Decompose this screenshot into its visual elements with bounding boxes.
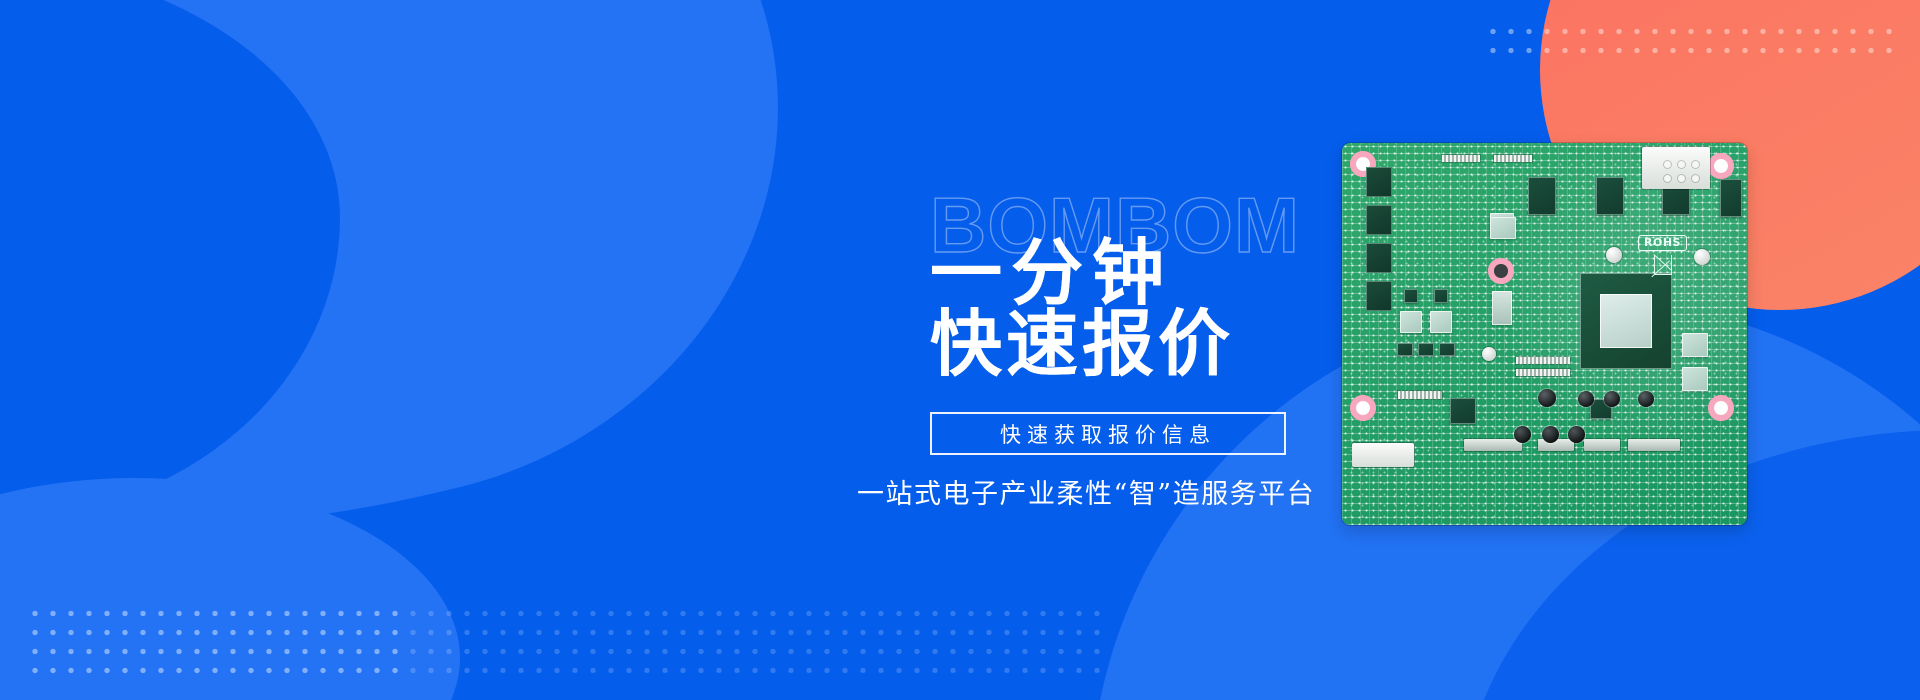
pcb-chip bbox=[1490, 217, 1516, 239]
pcb-io-port bbox=[1628, 439, 1680, 451]
get-quote-button[interactable]: 快速获取报价信息 bbox=[930, 412, 1286, 455]
rohs-label: ROHS bbox=[1638, 235, 1687, 251]
pcb-io-port bbox=[1352, 443, 1414, 467]
pcb-chip bbox=[1492, 291, 1512, 325]
pcb-chip bbox=[1366, 205, 1392, 235]
pcb-pad bbox=[1678, 161, 1685, 168]
pcb-pad bbox=[1692, 175, 1699, 182]
pcb-mount-hole bbox=[1708, 153, 1734, 179]
pcb-card-slot bbox=[1642, 147, 1710, 189]
pcb-chip bbox=[1400, 311, 1422, 333]
pcb-chip bbox=[1434, 289, 1448, 303]
pcb-chip bbox=[1418, 343, 1434, 356]
pcb-pin-header bbox=[1398, 391, 1442, 399]
pcb-chip bbox=[1682, 367, 1708, 391]
wee-bin-icon bbox=[1654, 255, 1672, 275]
pcb-chip bbox=[1430, 311, 1452, 333]
pcb-pad bbox=[1692, 161, 1699, 168]
promo-banner: ROHS BOMBOM 一分钟 快速报价 快速获取报价信息 一站式电子产业柔性“… bbox=[0, 0, 1920, 700]
pcb-chip bbox=[1682, 333, 1708, 357]
pcb-chip bbox=[1404, 289, 1418, 303]
pcb-audio-jack bbox=[1542, 426, 1559, 443]
pcb-pin-header bbox=[1516, 357, 1570, 364]
pcb-pad bbox=[1678, 175, 1685, 182]
pcb-capacitor bbox=[1578, 391, 1594, 407]
pcb-capacitor bbox=[1482, 347, 1496, 361]
pcb-capacitor bbox=[1604, 391, 1620, 407]
banner-copy: BOMBOM 一分钟 快速报价 快速获取报价信息 一站式电子产业柔性“智”造服务… bbox=[0, 0, 1300, 700]
headline-line-2: 快速报价 bbox=[930, 309, 1288, 380]
dot-grid-top-right bbox=[1484, 22, 1896, 56]
pcb-chip bbox=[1720, 179, 1742, 217]
pcb-chip bbox=[1450, 398, 1476, 424]
circuit-board-image: ROHS bbox=[1342, 143, 1747, 525]
pcb-audio-jack bbox=[1514, 426, 1531, 443]
pcb-capacitor bbox=[1638, 391, 1654, 407]
pcb-chip bbox=[1366, 281, 1392, 311]
pcb-pin-header bbox=[1516, 369, 1570, 376]
pcb-processor bbox=[1580, 273, 1672, 369]
pcb-io-port bbox=[1464, 439, 1522, 451]
pcb-chip bbox=[1528, 177, 1556, 215]
pcb-pin-header bbox=[1494, 155, 1532, 162]
pcb-audio-jack bbox=[1568, 426, 1585, 443]
pcb-capacitor bbox=[1606, 247, 1622, 263]
tagline: 一站式电子产业柔性“智”造服务平台 bbox=[857, 472, 1315, 511]
pcb-chip bbox=[1397, 343, 1413, 356]
pcb-chip bbox=[1439, 343, 1455, 356]
page-title: 一分钟 快速报价 bbox=[930, 238, 1288, 379]
pcb-chip bbox=[1596, 177, 1624, 215]
headline-line-1: 一分钟 bbox=[930, 238, 1288, 309]
pcb-pin-header bbox=[1442, 155, 1480, 162]
pcb-capacitor bbox=[1538, 389, 1556, 407]
pcb-pad bbox=[1664, 161, 1671, 168]
pcb-mount-hole bbox=[1708, 395, 1734, 421]
pcb-chip bbox=[1366, 243, 1392, 273]
pcb-io-port bbox=[1584, 439, 1620, 451]
pcb-pad bbox=[1664, 175, 1671, 182]
pcb-mount-hole bbox=[1488, 258, 1514, 284]
pcb-mount-hole bbox=[1350, 395, 1376, 421]
pcb-capacitor bbox=[1694, 249, 1710, 265]
pcb-chip bbox=[1366, 167, 1392, 197]
